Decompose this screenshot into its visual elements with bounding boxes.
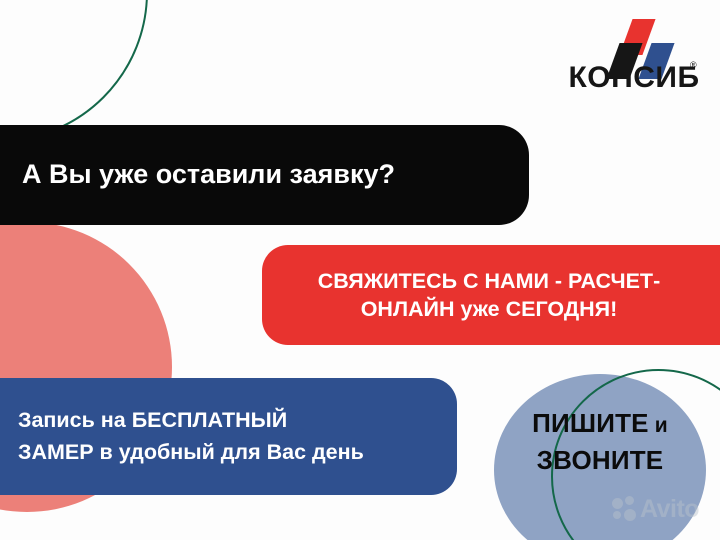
avito-dots-icon [612,496,638,522]
logo-wordmark: КОНСИБ [568,63,700,93]
logo-mark [568,18,700,66]
contact-banner-line2-prefix: ОНЛАЙН [361,297,455,321]
avito-dot-3 [613,511,621,519]
question-banner: А Вы уже оставили заявку? [0,125,529,225]
decorative-green-circle-top-left [0,0,148,142]
avito-dot-1 [612,498,623,509]
free-measurement-banner-text: Запись на БЕСПЛАТНЫЙ ЗАМЕР в удобный для… [18,405,364,467]
registered-trademark-icon: ® [690,60,697,70]
callout-line2: ЗВОНИТЕ [537,445,664,475]
callout-line1-conjunction: и [649,414,668,437]
free-measurement-banner: Запись на БЕСПЛАТНЫЙ ЗАМЕР в удобный для… [0,378,457,495]
write-and-call-callout: ПИШИТЕ и ЗВОНИТЕ [494,405,706,479]
question-banner-text: А Вы уже оставили заявку? [22,159,395,190]
callout-line1-main: ПИШИТЕ [532,408,649,438]
avito-watermark-label: Avito [640,497,699,522]
company-logo: КОНСИБ ® [568,18,700,96]
promo-banner-canvas: КОНСИБ ® А Вы уже оставили заявку? СВЯЖИ… [0,0,720,540]
contact-banner-line2-suffix: СЕГОДНЯ! [506,297,618,321]
avito-watermark: Avito [612,492,716,526]
contact-banner-line2-middle: уже [455,297,506,321]
contact-banner-text: СВЯЖИТЕСЬ С НАМИ - РАСЧЕТ- ОНЛАЙН уже СЕ… [286,267,692,324]
contact-banner-line1: СВЯЖИТЕСЬ С НАМИ - РАСЧЕТ- [318,269,660,293]
contact-banner: СВЯЖИТЕСЬ С НАМИ - РАСЧЕТ- ОНЛАЙН уже СЕ… [262,245,720,345]
free-measurement-line2: ЗАМЕР в удобный для Вас день [18,440,364,464]
free-measurement-line1: Запись на БЕСПЛАТНЫЙ [18,408,287,432]
avito-dot-2 [625,496,634,505]
avito-dot-4 [624,509,636,521]
